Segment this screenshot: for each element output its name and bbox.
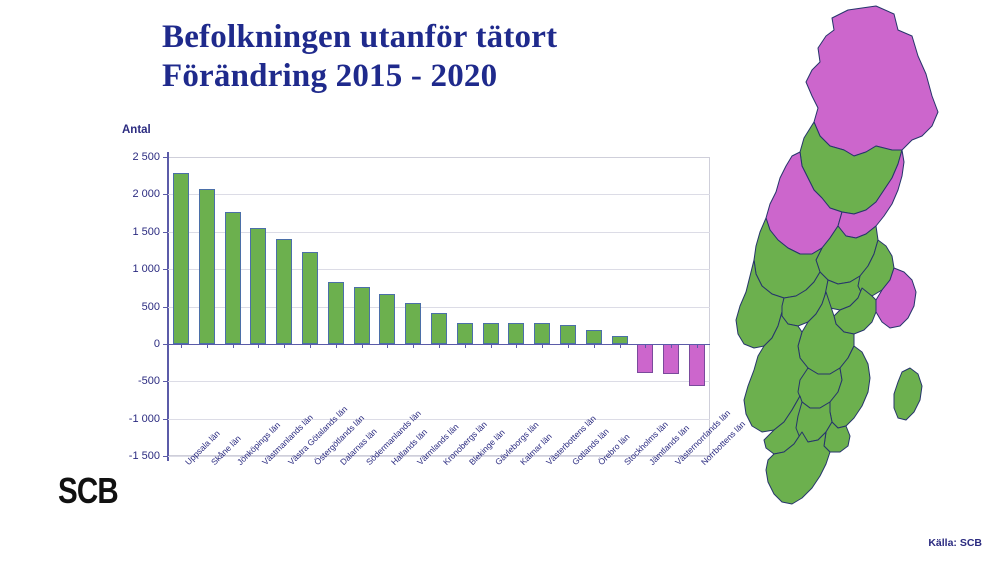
x-tick-mark [516,344,517,348]
x-tick-mark [645,344,646,348]
x-tick-mark [671,344,672,348]
bar [225,212,241,344]
y-tick-label: 2 500 [108,151,160,163]
bar [250,228,266,343]
x-tick-mark [387,344,388,348]
x-tick-mark [697,344,698,348]
x-tick-mark [568,344,569,348]
y-tick-label: -1 500 [108,450,160,462]
y-tick-mark [163,419,168,420]
bar [199,189,215,344]
y-tick-label: 1 500 [108,226,160,238]
gridline [168,269,710,270]
bar [173,173,189,343]
bar [560,325,576,344]
y-tick-label: 2 000 [108,188,160,200]
y-tick-mark [163,456,168,457]
x-tick-mark [439,344,440,348]
y-tick-mark [163,157,168,158]
y-tick-mark [163,307,168,308]
x-tick-mark [491,344,492,348]
map-region: Norrbottens län [806,6,938,156]
x-tick-mark [362,344,363,348]
y-axis-title: Antal [122,124,151,136]
x-tick-mark [310,344,311,348]
bar [431,313,447,344]
x-tick-mark [620,344,621,348]
slide-canvas: Befolkningen utanför tätort Förändring 2… [0,0,1000,563]
y-tick-mark [163,194,168,195]
bar [612,336,628,344]
bar [276,239,292,344]
bar [637,344,653,373]
map-region: Gotlands län [894,368,922,420]
bar [457,323,473,344]
y-tick-mark [163,381,168,382]
y-tick-label: 500 [108,301,160,313]
bar [663,344,679,374]
x-tick-mark [413,344,414,348]
x-tick-mark [258,344,259,348]
y-tick-mark [163,232,168,233]
bar [534,323,550,344]
gridline [168,419,710,420]
gridline [168,307,710,308]
y-tick-label: -500 [108,375,160,387]
bar [689,344,705,387]
bar [586,330,602,344]
bar [508,323,524,344]
x-tick-mark [542,344,543,348]
bar [483,323,499,344]
sweden-map-svg: Norrbottens länVästerbottens länJämtland… [726,0,1000,563]
x-tick-mark [207,344,208,348]
gridline [168,381,710,382]
source-label: Källa: SCB [928,537,982,549]
bar [379,294,395,344]
x-tick-mark [233,344,234,348]
gridline [168,232,710,233]
scb-logo: SCB [58,470,118,512]
x-tick-mark [465,344,466,348]
bar [354,287,370,344]
bar [302,252,318,344]
gridline [168,194,710,195]
y-tick-mark [163,269,168,270]
y-tick-label: 0 [108,338,160,350]
x-tick-mark [284,344,285,348]
bar [405,303,421,344]
y-tick-label: -1 000 [108,413,160,425]
x-tick-mark [181,344,182,348]
sweden-map: Norrbottens länVästerbottens länJämtland… [726,0,1000,563]
y-tick-label: 1 000 [108,263,160,275]
x-tick-mark [594,344,595,348]
bar [328,282,344,344]
x-tick-mark [336,344,337,348]
